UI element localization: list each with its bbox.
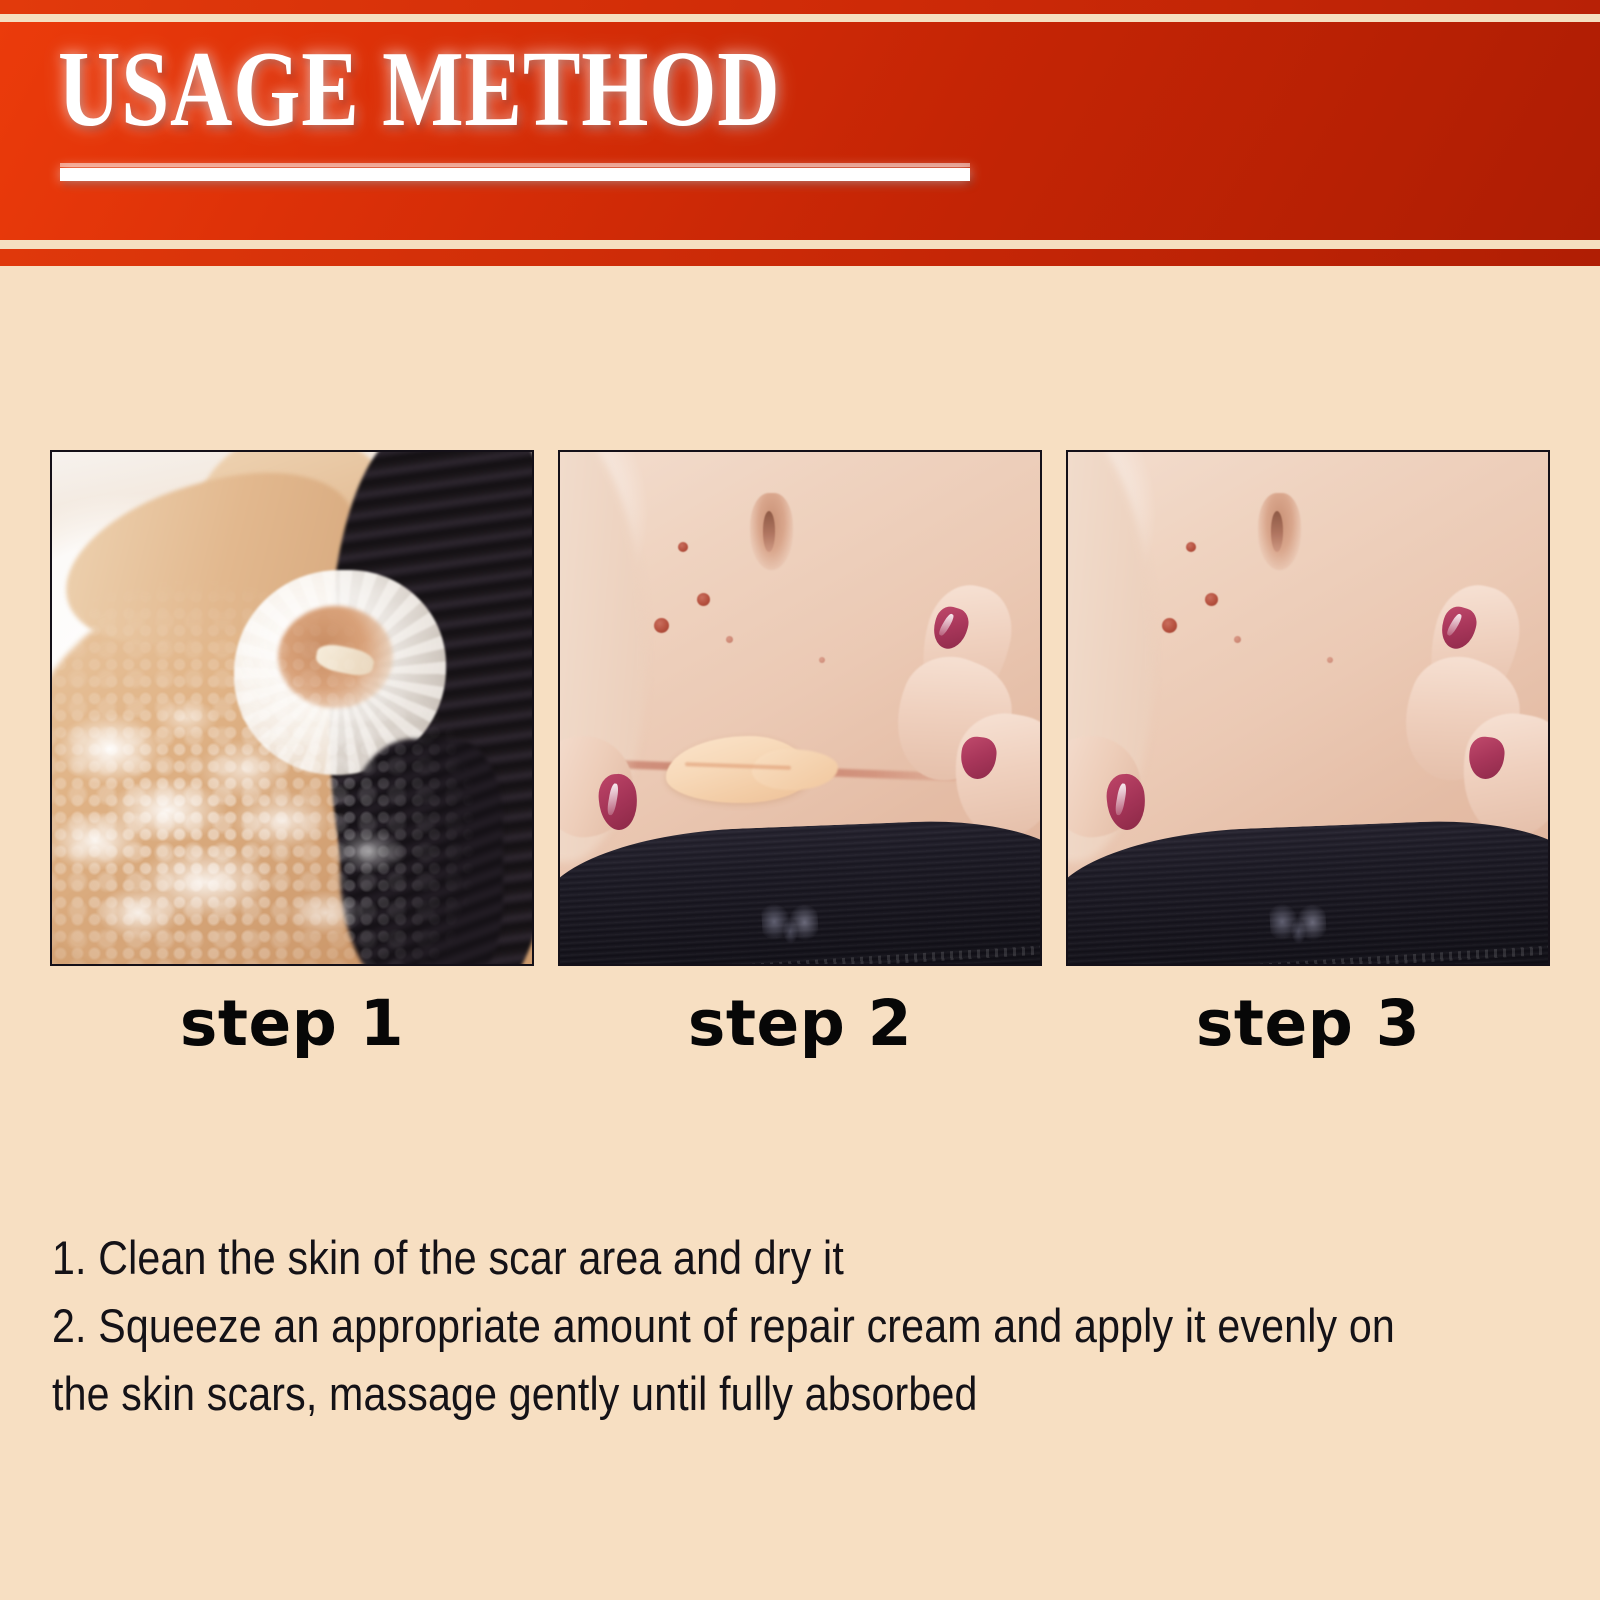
skin-mole — [1162, 618, 1177, 633]
underwear-bow-shape — [761, 900, 819, 945]
instruction-line-3: the skin scars, massage gently until ful… — [52, 1360, 1548, 1428]
soap-bubbles-texture — [52, 452, 532, 964]
skin-mole — [1186, 542, 1196, 552]
skin-mole — [726, 636, 733, 643]
left-hand-shape — [558, 728, 642, 861]
skin-mole — [1205, 593, 1218, 606]
header-top-rule — [0, 14, 1600, 22]
skin-mole — [678, 542, 688, 552]
nail-gloss-highlight — [1446, 613, 1464, 638]
skin-mole — [697, 593, 710, 606]
header-top-strip — [0, 0, 1600, 14]
nail-gloss-highlight — [1114, 783, 1128, 816]
waistband-stitch-seam — [558, 943, 1042, 966]
step-3-caption: step 3 — [1066, 992, 1550, 1055]
page-title: USAGE METHOD — [58, 36, 780, 144]
step-1: step 1 — [50, 450, 534, 1055]
skin-mole — [1234, 636, 1241, 643]
header-bottom-rule — [0, 240, 1600, 249]
waistband-stitch-seam — [1066, 943, 1550, 966]
nail-gloss-highlight — [938, 613, 956, 638]
step-3: step 3 — [1066, 450, 1550, 1055]
navel-crease-shape — [763, 511, 775, 552]
nail-gloss-highlight — [606, 783, 620, 816]
step-2-photo-apply-cream — [558, 450, 1042, 966]
step-2-caption: step 2 — [558, 992, 1042, 1055]
instruction-line-2: 2. Squeeze an appropriate amount of repa… — [52, 1292, 1548, 1360]
step-1-photo-shower-loofah — [50, 450, 534, 966]
step-1-caption: step 1 — [50, 992, 534, 1055]
step-3-photo-result-smooth-skin — [1066, 450, 1550, 966]
underwear-bow-shape — [1269, 900, 1327, 945]
header-bottom-strip — [0, 249, 1600, 266]
header-banner: USAGE METHOD — [0, 0, 1600, 266]
steps-row: step 1 — [50, 450, 1550, 1055]
instruction-line-1: 1. Clean the skin of the scar area and d… — [52, 1224, 1548, 1292]
skin-mole — [1327, 657, 1333, 663]
navel-crease-shape — [1271, 511, 1283, 552]
skin-mole — [819, 657, 825, 663]
skin-mole — [654, 618, 669, 633]
usage-method-infographic: USAGE METHOD step 1 — [0, 0, 1600, 1600]
title-underline — [60, 168, 970, 181]
instructions-block: 1. Clean the skin of the scar area and d… — [52, 1224, 1552, 1428]
left-hand-shape — [1066, 728, 1150, 861]
step-2: step 2 — [558, 450, 1042, 1055]
